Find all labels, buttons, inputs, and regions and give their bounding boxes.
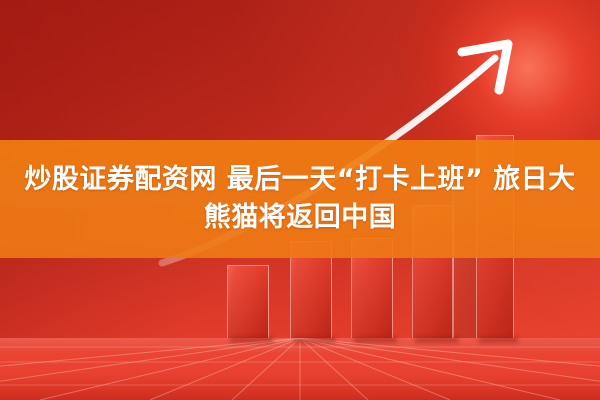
headline-band: 炒股证券配资网 最后一天“打卡上班” 旅日大熊猫将返回中国: [0, 140, 600, 258]
bar-base-shadow: [479, 337, 518, 343]
bar-shade: [228, 266, 268, 338]
bar-base-shadow: [230, 337, 273, 343]
headline-text: 炒股证券配资网 最后一天“打卡上班” 旅日大熊猫将返回中国: [20, 161, 580, 237]
banner-image: 炒股证券配资网 最后一天“打卡上班” 旅日大熊猫将返回中国: [0, 0, 600, 400]
bar-base-shadow: [293, 337, 336, 343]
bar-1: [227, 265, 269, 338]
bar-base-shadow: [354, 337, 397, 343]
